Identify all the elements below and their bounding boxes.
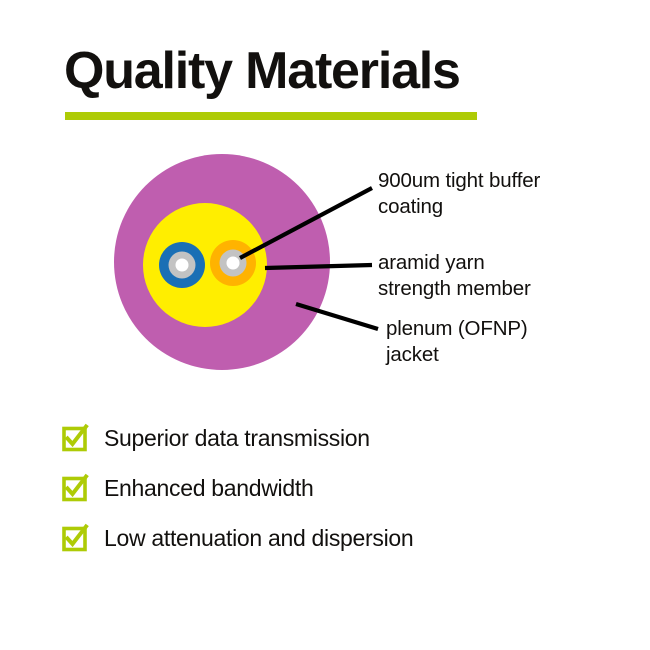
page-root: Quality Materials 900um tight buffer coa… <box>0 0 650 650</box>
benefits-list: Superior data transmission Enhanced band… <box>62 420 622 570</box>
checkbox-checked-icon <box>62 425 88 451</box>
callout-tight-buffer-line1: 900um tight buffer <box>378 168 540 194</box>
checkbox-checked-icon <box>62 475 88 501</box>
callout-plenum-jacket-line1: plenum (OFNP) <box>386 316 528 342</box>
benefit-label: Superior data transmission <box>104 425 370 452</box>
callout-aramid-yarn: aramid yarn strength member <box>378 250 531 302</box>
callout-tight-buffer: 900um tight buffer coating <box>378 168 540 220</box>
callout-aramid-yarn-line2: strength member <box>378 276 531 302</box>
benefit-label: Low attenuation and dispersion <box>104 525 413 552</box>
benefit-label: Enhanced bandwidth <box>104 475 313 502</box>
list-item: Low attenuation and dispersion <box>62 520 622 556</box>
list-item: Enhanced bandwidth <box>62 470 622 506</box>
callout-plenum-jacket-line2: jacket <box>386 342 528 368</box>
checkbox-checked-icon <box>62 525 88 551</box>
callout-aramid-yarn-line1: aramid yarn <box>378 250 531 276</box>
callout-tight-buffer-line2: coating <box>378 194 540 220</box>
list-item: Superior data transmission <box>62 420 622 456</box>
callout-plenum-jacket: plenum (OFNP) jacket <box>386 316 528 368</box>
